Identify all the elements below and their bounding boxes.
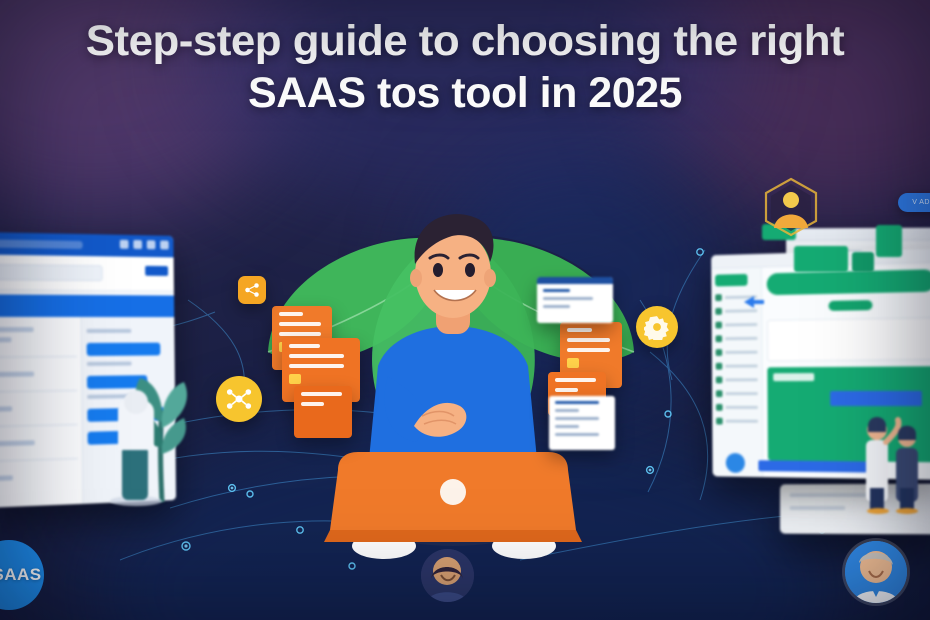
cta-pill-button[interactable]: [828, 300, 872, 311]
sidebar-item[interactable]: [715, 321, 757, 329]
card-line: [555, 388, 578, 392]
sidebar-icon: [716, 349, 723, 356]
browser-topbar: [0, 232, 174, 257]
person-hexagon-avatar: [760, 176, 822, 238]
gear-icon-badge: [636, 306, 678, 348]
sidebar-item-label: [725, 337, 758, 340]
page-title: Step-step guide to choosing the right SA…: [0, 14, 930, 122]
card-line: [567, 328, 592, 332]
card-chip-icon: [289, 374, 301, 384]
table-row: [0, 475, 13, 481]
card-line: [279, 312, 303, 316]
window-line: [555, 409, 579, 412]
sidebar-item[interactable]: [716, 349, 758, 356]
sidebar-item-label: [725, 392, 758, 395]
avatar-right[interactable]: [845, 541, 907, 603]
eye-icon[interactable]: [147, 240, 156, 249]
sidebar-item[interactable]: [716, 390, 758, 397]
card-line: [301, 392, 342, 396]
menu-icon[interactable]: [160, 241, 169, 250]
topbar-icons: [120, 240, 169, 250]
sidebar-icon: [716, 404, 723, 411]
sidebar-item[interactable]: [716, 363, 758, 370]
table-row: [0, 440, 35, 446]
green-tab[interactable]: [852, 252, 874, 272]
table-row: [0, 327, 34, 332]
card-line: [289, 354, 344, 358]
table-row: [0, 372, 34, 378]
green-tab[interactable]: [794, 246, 848, 272]
avatar-photo: [421, 549, 474, 602]
card-line: [301, 402, 324, 406]
card-line: [567, 348, 610, 352]
window-line: [555, 433, 599, 436]
share-nodes-icon: [243, 281, 261, 299]
window-line: [543, 289, 570, 292]
sidebar-item-label: [726, 420, 759, 423]
sidebar-icon: [715, 308, 722, 315]
avatar-center[interactable]: [421, 549, 474, 602]
url-bar[interactable]: [0, 239, 83, 249]
card-line: [289, 344, 320, 348]
window-line: [543, 297, 593, 300]
green-tab[interactable]: [876, 225, 902, 257]
chat-fab-button[interactable]: [726, 453, 745, 473]
sidebar-icon: [716, 418, 723, 425]
search-input[interactable]: [0, 264, 103, 282]
divider: [0, 356, 77, 358]
window-line: [555, 417, 599, 420]
sidebar-item[interactable]: [716, 418, 758, 425]
data-table: [0, 317, 82, 508]
avatar-photo: [845, 541, 907, 603]
hero-banner: Step-step guide to choosing the right SA…: [0, 0, 930, 620]
cart-icon[interactable]: [133, 240, 142, 249]
green-banner: [767, 269, 930, 295]
mini-window[interactable]: [549, 396, 615, 450]
title-line-2: SAAS tos tool in 2025: [6, 66, 924, 122]
sidebar-item[interactable]: [716, 376, 758, 383]
sidebar-icon: [716, 377, 723, 384]
table-row: [0, 406, 12, 412]
orange-card: [294, 386, 352, 438]
refresh-icon[interactable]: [120, 240, 129, 249]
footer-line: [790, 506, 846, 510]
sidebar-icon: [715, 294, 722, 301]
title-line-1: Step-step guide to choosing the right: [0, 14, 930, 70]
sidebar-icon: [715, 335, 722, 342]
search-row: [0, 254, 174, 291]
section-header-bar: [0, 294, 174, 317]
center-illustration: [238, 170, 668, 590]
card-line: [279, 332, 321, 336]
search-button[interactable]: [145, 266, 168, 276]
card-line: [279, 322, 321, 326]
top-right-pill-badge[interactable]: V AD: [898, 193, 930, 212]
network-icon: [225, 385, 253, 413]
sidebar-item-label: [725, 323, 758, 326]
network-icon-badge: [216, 376, 262, 422]
sidebar-icon: [715, 322, 722, 329]
window-titlebar: [537, 277, 613, 284]
sidebar-item[interactable]: [715, 335, 757, 342]
sidebar-item-label: [725, 406, 758, 409]
divider: [0, 424, 77, 427]
card-chip-icon: [567, 358, 579, 368]
pill-label: V AD: [912, 199, 930, 206]
card-line: [289, 364, 344, 368]
chat-label: [86, 329, 131, 333]
table-row: [0, 337, 12, 342]
window-line: [555, 401, 599, 404]
person-silhouette-left: [96, 388, 176, 506]
window-line: [543, 305, 570, 308]
divider: [0, 390, 77, 392]
window-line: [555, 425, 579, 428]
sidebar-icon: [716, 390, 723, 397]
arrow-badge-icon: [742, 294, 766, 310]
promo-header: [773, 373, 814, 381]
sidebar-icon: [716, 363, 723, 370]
card-line: [567, 338, 610, 342]
share-nodes-icon-badge: [238, 276, 266, 304]
sidebar-item-label: [725, 364, 758, 367]
content-card: [767, 317, 930, 361]
app-logo: [715, 274, 747, 287]
sidebar-item[interactable]: [716, 404, 758, 411]
gear-icon: [644, 314, 670, 340]
sidebar-item-label: [725, 351, 758, 354]
people-illustration-right: [856, 396, 930, 514]
sidebar-item-label: [725, 378, 758, 381]
divider: [0, 458, 78, 462]
saas-badge-label: SAAS: [0, 565, 42, 585]
card-line: [555, 378, 596, 382]
mini-window[interactable]: [537, 277, 613, 323]
